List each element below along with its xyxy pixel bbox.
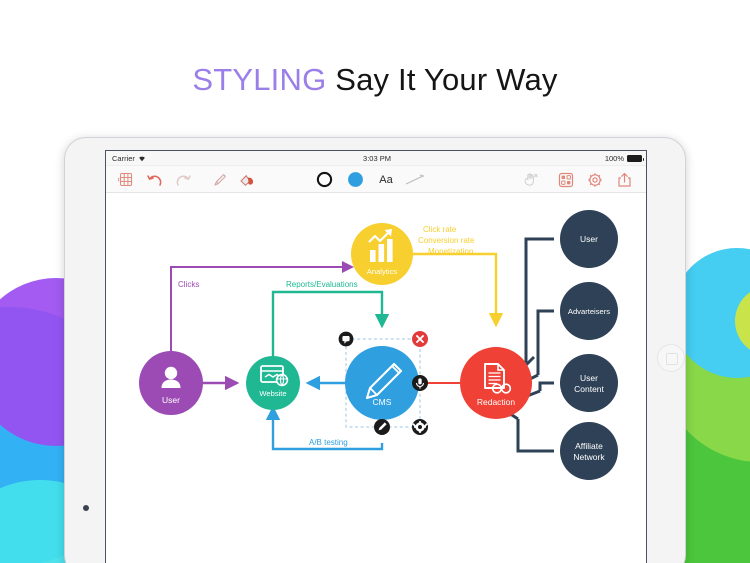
page-title-plain: Say It Your Way: [335, 62, 557, 97]
fill-paint-icon[interactable]: [237, 171, 255, 188]
status-bar-right: 100%: [605, 154, 642, 163]
battery-full-icon: [627, 155, 642, 162]
edge-label-monetization: Monetization: [428, 247, 473, 256]
node-source-user-label: User: [580, 234, 598, 244]
node-source-affiliate-network[interactable]: Affiliate Network: [560, 422, 618, 480]
node-analytics-label: Analytics: [367, 267, 398, 276]
ipad-device-frame: Carrier 3:03 PM 100%: [64, 137, 686, 563]
page-title-accent: STYLING: [192, 62, 326, 97]
screenshot-root: STYLING Say It Your Way Carrier 3:03 PM …: [0, 0, 750, 563]
node-source-user-content[interactable]: User Content: [560, 354, 618, 412]
stroke-color-swatch[interactable]: [315, 171, 334, 188]
node-website-label: Website: [259, 389, 286, 398]
node-source-user[interactable]: User: [560, 210, 618, 268]
edge-label-click-rate: Click rate: [423, 225, 457, 234]
edge-label-conversion-rate: Conversion rate: [418, 236, 475, 245]
app-toolbar: Aa: [106, 166, 647, 193]
edge-label-reports: Reports/Evaluations: [286, 280, 358, 289]
node-cms-label: CMS: [373, 397, 392, 407]
text-style-button[interactable]: Aa: [374, 171, 398, 188]
fill-color-swatch[interactable]: [346, 171, 365, 188]
node-user[interactable]: User: [139, 351, 203, 415]
node-website[interactable]: Website: [246, 356, 300, 410]
diagram-canvas[interactable]: Clicks Reports/Evaluations Click rate: [106, 193, 647, 563]
status-bar-time: 3:03 PM: [106, 154, 647, 163]
layout-template-icon[interactable]: [557, 171, 575, 188]
node-source-user-content-label-line2: Content: [574, 384, 604, 394]
status-bar: Carrier 3:03 PM 100%: [106, 151, 647, 166]
node-redaction[interactable]: Redaction: [460, 347, 532, 419]
edge-analytics-to-redaction[interactable]: [413, 254, 496, 325]
microphone-handle-icon[interactable]: [412, 375, 428, 391]
page-title: STYLING Say It Your Way: [0, 62, 750, 98]
edge-label-clicks: Clicks: [178, 280, 199, 289]
comment-handle-icon[interactable]: [339, 332, 354, 347]
node-source-advertisers[interactable]: Advarteisers: [560, 282, 618, 340]
front-camera-icon: [83, 505, 89, 511]
home-button[interactable]: [657, 344, 685, 372]
node-user-label: User: [162, 395, 180, 405]
node-redaction-label: Redaction: [477, 397, 516, 407]
node-source-affiliate-label-line1: Affiliate: [575, 441, 603, 451]
ipad-screen: Carrier 3:03 PM 100%: [105, 150, 647, 563]
delete-handle-icon[interactable]: [412, 331, 428, 347]
node-source-affiliate-label-line2: Network: [573, 452, 605, 462]
edge-label-ab-testing: A/B testing: [309, 438, 348, 447]
diagram-svg: Clicks Reports/Evaluations Click rate: [106, 193, 647, 563]
share-export-icon[interactable]: [615, 171, 633, 188]
settings-gear-icon[interactable]: [586, 171, 604, 188]
node-analytics[interactable]: Analytics: [351, 223, 413, 285]
pencil-draw-icon[interactable]: [211, 171, 228, 188]
undo-icon[interactable]: [146, 171, 163, 188]
node-source-user-content-label-line1: User: [580, 373, 598, 383]
node-cms[interactable]: CMS: [345, 339, 420, 427]
edit-pencil-handle-icon[interactable]: [374, 419, 390, 435]
hand-gesture-icon[interactable]: [521, 171, 539, 188]
battery-percent-label: 100%: [605, 154, 624, 163]
grid-templates-icon[interactable]: [117, 171, 134, 188]
settings-handle-icon[interactable]: [412, 419, 428, 435]
redo-icon[interactable]: [174, 171, 191, 188]
line-style-icon[interactable]: [404, 171, 426, 188]
node-source-advertisers-label: Advarteisers: [568, 307, 610, 316]
